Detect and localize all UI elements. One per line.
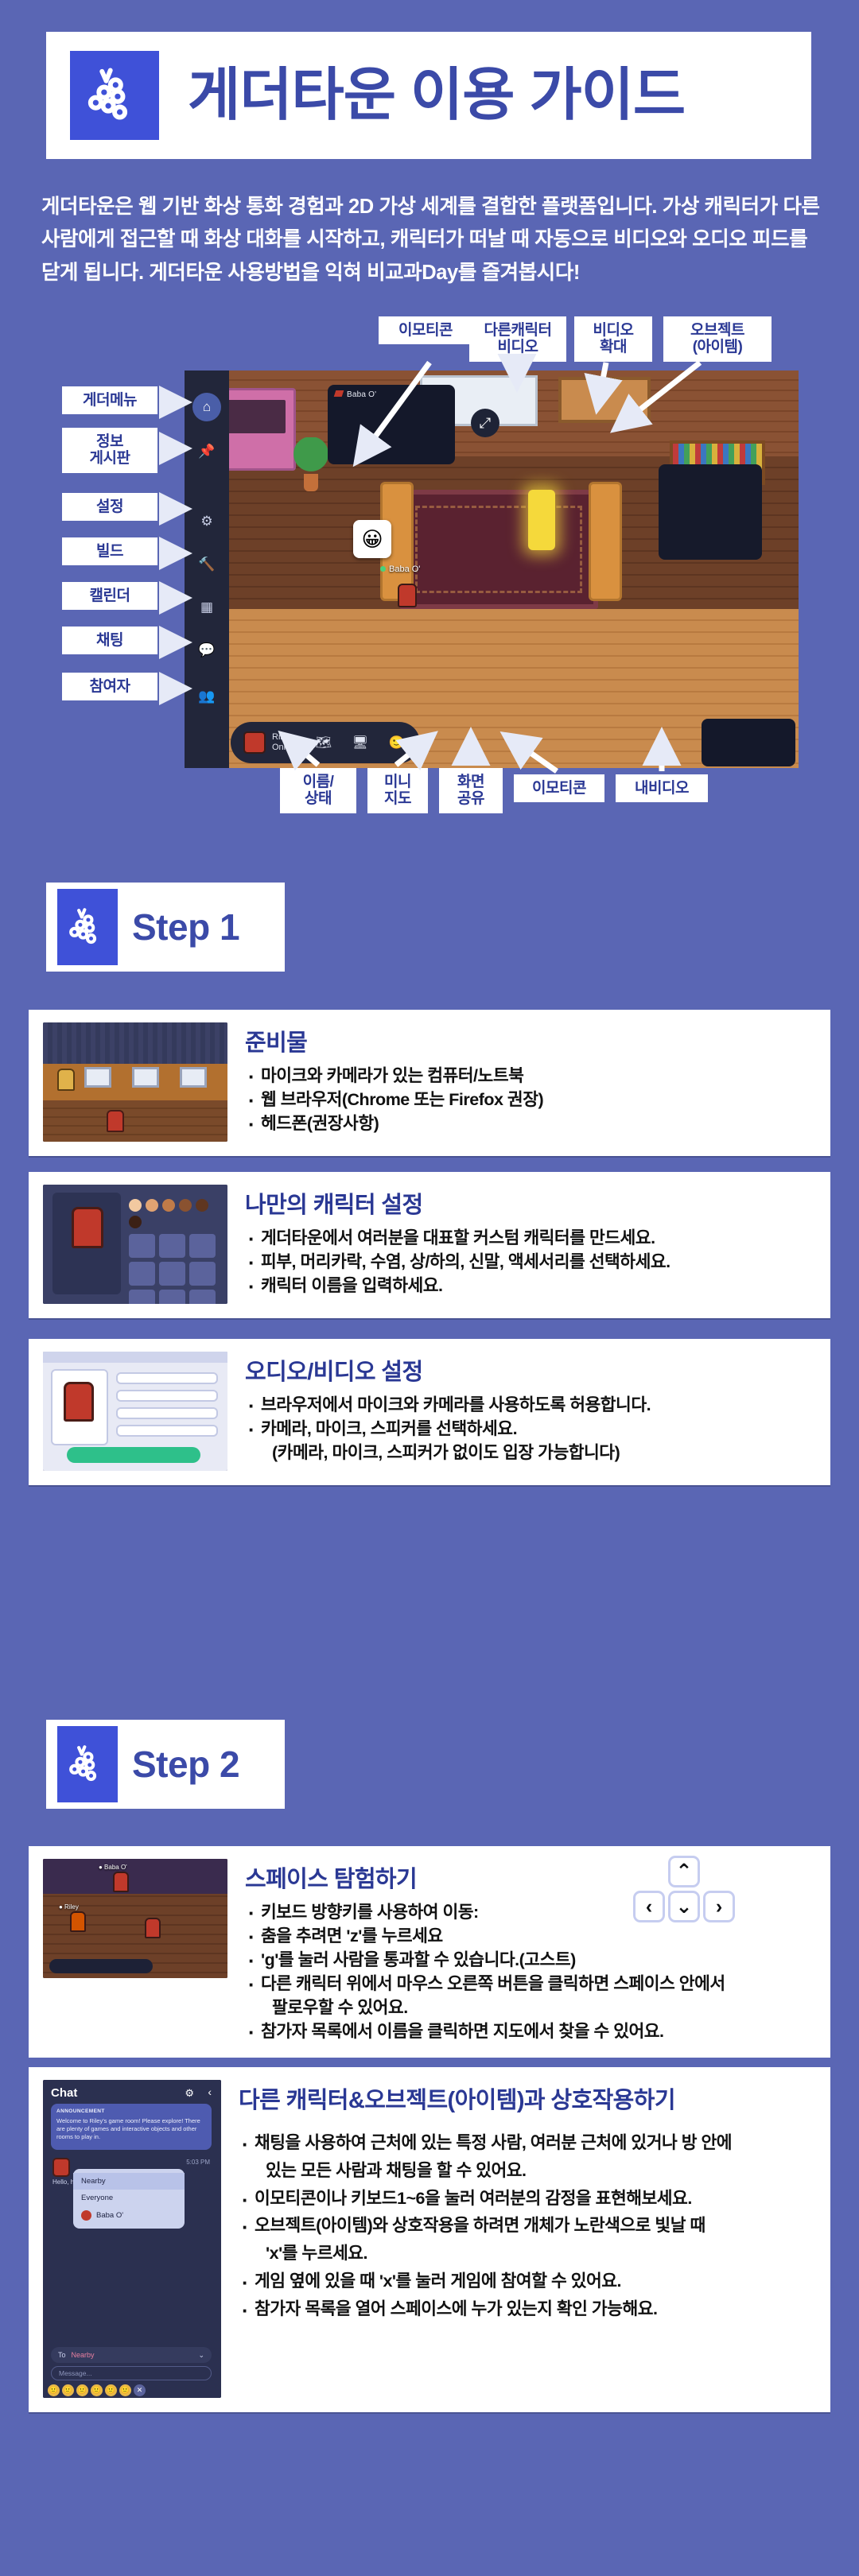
callout-screenshare: 화면 공유 xyxy=(439,768,503,813)
card-title: 나만의 캐릭터 설정 xyxy=(245,1186,816,1220)
card-title: 오디오/비디오 설정 xyxy=(245,1353,816,1387)
bullet-continuation: 'x'를 누르세요. xyxy=(239,2240,816,2268)
gear-icon[interactable]: ⚙ xyxy=(185,2087,194,2100)
avatar xyxy=(243,731,266,754)
self-name-status[interactable]: Riley Online xyxy=(243,731,297,754)
minimap-icon[interactable]: 🗺 xyxy=(313,732,334,753)
bullet-item: 춤을 추려면 'z'를 누르세요 xyxy=(245,1924,816,1948)
card-accent-strip xyxy=(29,1329,830,1339)
screenshare-icon[interactable]: 🖥 xyxy=(350,732,371,753)
bullet-list: 마이크와 카메라가 있는 컴퓨터/노트북 웹 브라우저(Chrome 또는 Fi… xyxy=(245,1064,816,1135)
gather-bottom-bar: Riley Online 🗺 🖥 🙂 xyxy=(231,722,795,763)
grape-logo-icon xyxy=(64,1741,111,1787)
dropdown-option-nearby[interactable]: Nearby xyxy=(73,2173,185,2190)
bullet-item: 웹 브라우저(Chrome 또는 Firefox 권장) xyxy=(245,1088,816,1111)
message-time: 5:03 PM xyxy=(186,2159,210,2166)
sidebar-item-gather-menu[interactable]: ⌂ xyxy=(192,393,221,421)
my-video-tile[interactable] xyxy=(702,719,795,766)
callout-object-item: 오브젝트 (아이템) xyxy=(663,316,772,362)
logo-mark-icon xyxy=(334,390,344,397)
callout-settings: 설정 xyxy=(62,493,157,521)
callout-other-video: 다른캐릭터 비디오 xyxy=(469,316,566,362)
bullet-item: 다른 캐릭터 위에서 마우스 오른쪽 버튼을 클릭하면 스페이스 안에서 xyxy=(245,1972,816,1996)
self-status: Online xyxy=(272,743,297,753)
bullet-item: 브라우저에서 마이크와 카메라를 사용하도록 허용합니다. xyxy=(245,1393,816,1417)
to-value: Nearby xyxy=(72,2351,95,2359)
bullet-item: 참가자 목록에서 이름을 클릭하면 지도에서 찾을 수 있어요. xyxy=(245,2019,816,2043)
gathertown-screenshot: Baba O' ⤢ 😀 Baba O' ⌂ 📌 ⚙ 🔨 ▦ 💬 👥 xyxy=(185,370,799,768)
avatar xyxy=(52,2158,70,2177)
intro-paragraph: 게더타운은 웹 기반 화상 통화 경험과 2D 가상 세계를 결합한 플랫폼입니… xyxy=(41,191,821,289)
step-1-label: Step 1 xyxy=(132,906,239,949)
emoji-1[interactable]: 🙂 xyxy=(48,2384,60,2396)
avatar-other xyxy=(398,584,417,607)
card-character-setup: 나만의 캐릭터 설정 게더타운에서 여러분을 대표할 커스텀 캐릭터를 만드세요… xyxy=(29,1162,830,1318)
callout-video-expand: 비디오 확대 xyxy=(574,316,652,362)
bullet-item: 게더타운에서 여러분을 대표할 커스텀 캐릭터를 만드세요. xyxy=(245,1226,816,1250)
av-settings-thumbnail xyxy=(43,1352,227,1471)
sidebar-item-participants[interactable]: 👥 xyxy=(196,685,218,708)
sidebar-item-build[interactable]: 🔨 xyxy=(196,553,218,576)
step-2-label: Step 2 xyxy=(132,1743,239,1786)
recipient-selector[interactable]: To Nearby ⌄ xyxy=(51,2347,212,2363)
chat-panel-title: Chat xyxy=(51,2086,77,2100)
bullet-list: 채팅을 사용하여 근처에 있는 특정 사람, 여러분 근처에 있거나 방 안에 … xyxy=(239,2129,816,2323)
rug xyxy=(399,490,598,609)
arrow-left-key[interactable]: ‹ xyxy=(633,1891,665,1922)
close-icon[interactable]: ✕ xyxy=(134,2384,146,2396)
page-title: 게더타운 이용 가이드 xyxy=(188,67,685,124)
chat-panel-thumbnail: Chat ⚙ ‹ ANNOUNCEMENT Welcome to Riley's… xyxy=(43,2080,221,2398)
bullet-item: 채팅을 사용하여 근처에 있는 특정 사람, 여러분 근처에 있거나 방 안에 xyxy=(239,2129,816,2157)
to-label: To xyxy=(58,2351,66,2359)
card-preparation: 준비물 마이크와 카메라가 있는 컴퓨터/노트북 웹 브라우저(Chrome 또… xyxy=(29,1000,830,1156)
room-desks-thumbnail xyxy=(43,1022,227,1142)
other-character-video[interactable]: Baba O' xyxy=(328,385,455,464)
bullet-subline: (카메라, 마이크, 스피커가 없이도 입장 가능합니다) xyxy=(245,1441,816,1465)
emoji-5[interactable]: 🙂 xyxy=(105,2384,117,2396)
self-name: Riley xyxy=(272,732,297,743)
sidebar-item-chat[interactable]: 💬 xyxy=(196,639,218,661)
card-explore-space: ● Baba O' ● Riley 스페이스 탐험하기 키보드 방향키를 사용하… xyxy=(29,1837,830,2058)
screen-panel xyxy=(659,464,762,560)
callout-participants: 참여자 xyxy=(62,673,157,700)
character-customizer-thumbnail xyxy=(43,1185,227,1304)
bullet-item: 이모티콘이나 키보드1~6을 눌러 여러분의 감정을 표현해보세요. xyxy=(239,2185,816,2213)
callout-build: 빌드 xyxy=(62,537,157,565)
bullet-item: 마이크와 카메라가 있는 컴퓨터/노트북 xyxy=(245,1064,816,1088)
announcement-message: ANNOUNCEMENT Welcome to Riley's game roo… xyxy=(51,2104,212,2150)
gather-grape-logo xyxy=(70,51,159,140)
sidebar-item-settings[interactable]: ⚙ xyxy=(196,510,218,533)
announcement-label: ANNOUNCEMENT xyxy=(56,2109,206,2116)
bullet-item: 캐릭터 이름을 입력하세요. xyxy=(245,1274,816,1298)
emoji-2[interactable]: 🙂 xyxy=(62,2384,74,2396)
message-input[interactable]: Message... xyxy=(51,2366,212,2380)
card-accent-strip xyxy=(29,1837,830,1846)
callout-my-video: 내비디오 xyxy=(616,774,708,802)
callout-emoticon-top: 이모티콘 xyxy=(379,316,472,344)
callout-emoticon-bottom: 이모티콘 xyxy=(514,774,604,802)
arrow-down-key[interactable]: ⌄ xyxy=(668,1891,700,1922)
bullet-item: 참가자 목록을 열어 스페이스에 누가 있는지 확인 가능해요. xyxy=(239,2295,816,2323)
recipient-dropdown[interactable]: Nearby Everyone Baba O' xyxy=(73,2169,185,2229)
step-2-banner: Step 2 xyxy=(46,1720,285,1809)
emoji-3[interactable]: 🙂 xyxy=(76,2384,88,2396)
gather-left-sidebar: ⌂ 📌 ⚙ 🔨 ▦ 💬 👥 xyxy=(185,370,229,768)
page-header: 게더타운 이용 가이드 xyxy=(46,32,811,159)
bullet-list: 브라우저에서 마이크와 카메라를 사용하도록 허용합니다. 카메라, 마이크, … xyxy=(245,1393,816,1465)
bullet-continuation: 있는 모든 사람과 채팅을 할 수 있어요. xyxy=(239,2157,816,2185)
dropdown-option-person[interactable]: Baba O' xyxy=(73,2206,185,2225)
arrow-up-key[interactable]: ⌃ xyxy=(668,1856,700,1887)
space-map-thumbnail: ● Baba O' ● Riley xyxy=(43,1859,227,1978)
bullet-item: 카메라, 마이크, 스피커를 선택하세요. xyxy=(245,1417,816,1441)
callout-chat: 채팅 xyxy=(62,627,157,654)
emoji-4[interactable]: 🙂 xyxy=(91,2384,103,2396)
bottom-toolbar: Riley Online 🗺 🖥 🙂 xyxy=(231,722,420,763)
corkboard xyxy=(558,377,651,423)
sidebar-item-pinboard[interactable]: 📌 xyxy=(196,440,218,463)
bullet-item: 오브젝트(아이템)와 상호작용을 하려면 개체가 노란색으로 빛날 때 xyxy=(239,2212,816,2240)
card-title: 준비물 xyxy=(245,1024,816,1057)
bullet-item: 헤드폰(권장사항) xyxy=(245,1111,816,1135)
bullet-item: 'g'를 눌러 사람을 통과할 수 있습니다.(고스트) xyxy=(245,1948,816,1972)
callout-gather-menu: 게더메뉴 xyxy=(62,386,157,414)
bullet-item: 피부, 머리카락, 수염, 상/하의, 신말, 액세서리를 선택하세요. xyxy=(245,1250,816,1274)
bullet-list: 게더타운에서 여러분을 대표할 커스텀 캐릭터를 만드세요. 피부, 머리카락,… xyxy=(245,1226,816,1298)
couch-right xyxy=(589,482,622,601)
callout-pinboard: 정보 게시판 xyxy=(62,428,157,473)
card-interaction: Chat ⚙ ‹ ANNOUNCEMENT Welcome to Riley's… xyxy=(29,2058,830,2412)
avatar xyxy=(81,2210,91,2221)
step-1-banner: Step 1 xyxy=(46,883,285,972)
arrow-right-key[interactable]: › xyxy=(703,1891,735,1922)
interactive-object-glow[interactable] xyxy=(528,490,555,550)
card-title: 다른 캐릭터&오브젝트(아이템)과 상호작용하기 xyxy=(239,2081,816,2115)
card-accent-strip xyxy=(29,1162,830,1172)
plant xyxy=(293,437,329,493)
callout-minimap: 미니 지도 xyxy=(367,768,428,813)
callout-calendar: 캘린더 xyxy=(62,582,157,610)
emoji-6[interactable]: 🙂 xyxy=(119,2384,131,2396)
grape-logo-icon xyxy=(64,904,111,950)
callout-name-status: 이름/ 상태 xyxy=(280,768,356,813)
bullet-continuation: 팔로우할 수 있어요. xyxy=(245,1996,816,2019)
step-logo xyxy=(57,889,118,965)
chevron-left-icon[interactable]: ‹ xyxy=(208,2085,212,2098)
emoji-icon[interactable]: 🙂 xyxy=(387,732,407,753)
dropdown-option-everyone[interactable]: Everyone xyxy=(73,2190,185,2206)
card-av-setup: 오디오/비디오 설정 브라우저에서 마이크와 카메라를 사용하도록 허용합니다.… xyxy=(29,1329,830,1485)
bullet-item: 게임 옆에 있을 때 'x'를 눌러 게임에 참여할 수 있어요. xyxy=(239,2268,816,2295)
emoticon-popup: 😀 xyxy=(353,520,391,558)
card-accent-strip xyxy=(29,1000,830,1010)
step-logo xyxy=(57,1726,118,1802)
sidebar-item-calendar[interactable]: ▦ xyxy=(196,596,218,619)
arrow-keys-cluster: ⌃ ‹ ⌄ › xyxy=(633,1856,735,1922)
nametag-other: Baba O' xyxy=(380,564,420,574)
video-expand-button[interactable]: ⤢ xyxy=(471,409,499,437)
grape-logo-icon xyxy=(81,62,148,129)
card-accent-strip xyxy=(29,2058,830,2067)
guide-page: 게더타운 이용 가이드 게더타운은 웹 기반 화상 통화 경험과 2D 가상 세… xyxy=(0,0,859,2576)
annotated-screenshot: Baba O' ⤢ 😀 Baba O' ⌂ 📌 ⚙ 🔨 ▦ 💬 👥 xyxy=(0,308,859,817)
emoji-row[interactable]: 🙂🙂 🙂🙂 🙂🙂 ✕ xyxy=(48,2384,146,2396)
chevron-down-icon: ⌄ xyxy=(198,2351,204,2360)
announcement-text: Welcome to Riley's game room! Please exp… xyxy=(56,2117,200,2140)
